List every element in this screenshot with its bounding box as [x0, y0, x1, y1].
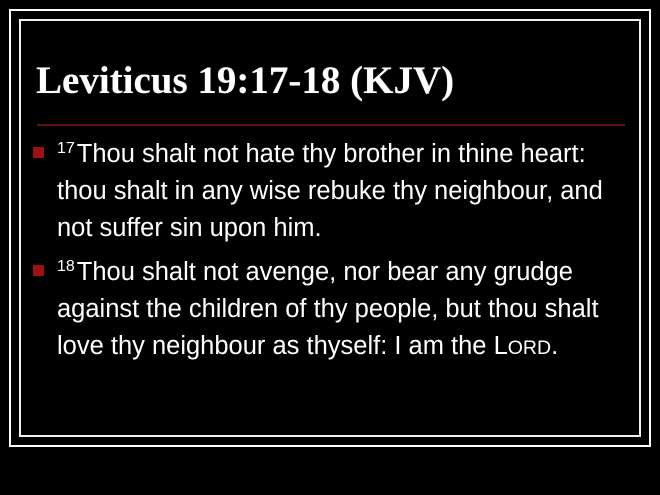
slide-canvas: Leviticus 19:17-18 (KJV) 17Thou shalt no…: [0, 0, 660, 495]
square-bullet-icon: [33, 265, 44, 276]
square-bullet-icon: [33, 147, 44, 158]
title-block: Leviticus 19:17-18 (KJV): [36, 58, 628, 104]
list-item: 18Thou shalt not avenge, nor bear any gr…: [30, 254, 638, 367]
list-item: 17Thou shalt not hate thy brother in thi…: [30, 136, 638, 249]
verse-text: Thou shalt not hate thy brother in thine…: [57, 140, 603, 242]
title-divider-rule: [37, 124, 625, 126]
verse-text-smallcaps: ORD: [508, 337, 551, 359]
scripture-body: 17Thou shalt not hate thy brother in thi…: [30, 136, 638, 372]
page-title: Leviticus 19:17-18 (KJV): [36, 58, 628, 104]
verse-number: 18: [57, 258, 77, 275]
verse-text-tail: .: [551, 332, 558, 360]
verse-number: 17: [57, 140, 77, 157]
